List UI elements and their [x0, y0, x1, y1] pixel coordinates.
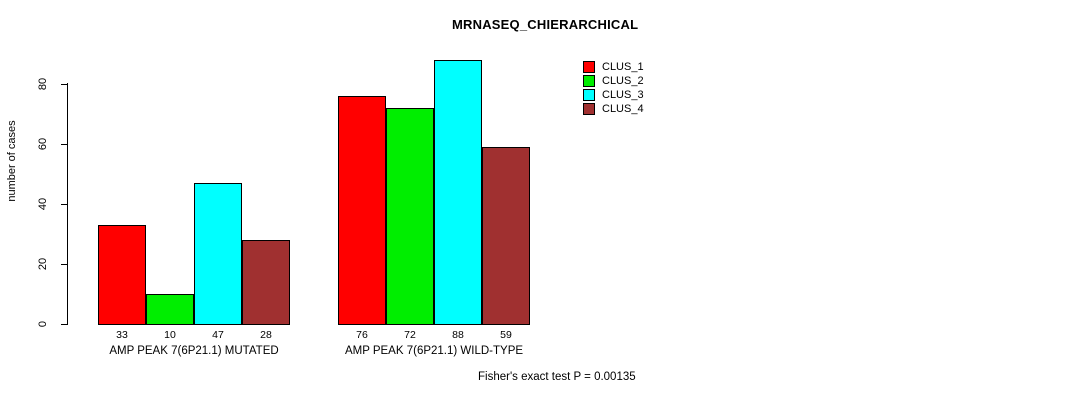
bar-value-label: 59: [482, 329, 530, 341]
bar: [98, 225, 146, 325]
legend-color-swatch: [583, 61, 595, 73]
bar: [434, 60, 482, 325]
legend-color-swatch: [583, 103, 595, 115]
bar-chart-figure: MRNASEQ_CHIERARCHICAL number of cases 02…: [0, 0, 1090, 400]
legend-item-label: CLUS_3: [602, 89, 644, 101]
bar-value-label: 88: [434, 329, 482, 341]
legend-item: CLUS_3: [583, 88, 644, 102]
bar-value-label: 72: [386, 329, 434, 341]
bar-value-label: 10: [146, 329, 194, 341]
statistical-annotation: Fisher's exact test P = 0.00135: [478, 371, 636, 383]
legend-color-swatch: [583, 89, 595, 101]
x-axis-group-label: AMP PEAK 7(6P21.1) WILD-TYPE: [308, 345, 560, 357]
legend-item: CLUS_1: [583, 60, 644, 74]
bar: [482, 147, 530, 325]
bar: [338, 96, 386, 325]
legend-item-label: CLUS_1: [602, 61, 644, 73]
plot-area: 33104728AMP PEAK 7(6P21.1) MUTATED767288…: [0, 0, 1090, 400]
bar-value-label: 47: [194, 329, 242, 341]
legend-item-label: CLUS_2: [602, 75, 644, 87]
legend-item: CLUS_2: [583, 74, 644, 88]
bar-value-label: 28: [242, 329, 290, 341]
legend-color-swatch: [583, 75, 595, 87]
bar: [146, 294, 194, 325]
legend-item: CLUS_4: [583, 102, 644, 116]
chart-legend: CLUS_1CLUS_2CLUS_3CLUS_4: [583, 60, 644, 116]
bar: [242, 240, 290, 325]
bar-value-label: 76: [338, 329, 386, 341]
x-axis-group-label: AMP PEAK 7(6P21.1) MUTATED: [68, 345, 320, 357]
bar-value-label: 33: [98, 329, 146, 341]
legend-item-label: CLUS_4: [602, 103, 644, 115]
bar: [194, 183, 242, 325]
bar: [386, 108, 434, 325]
